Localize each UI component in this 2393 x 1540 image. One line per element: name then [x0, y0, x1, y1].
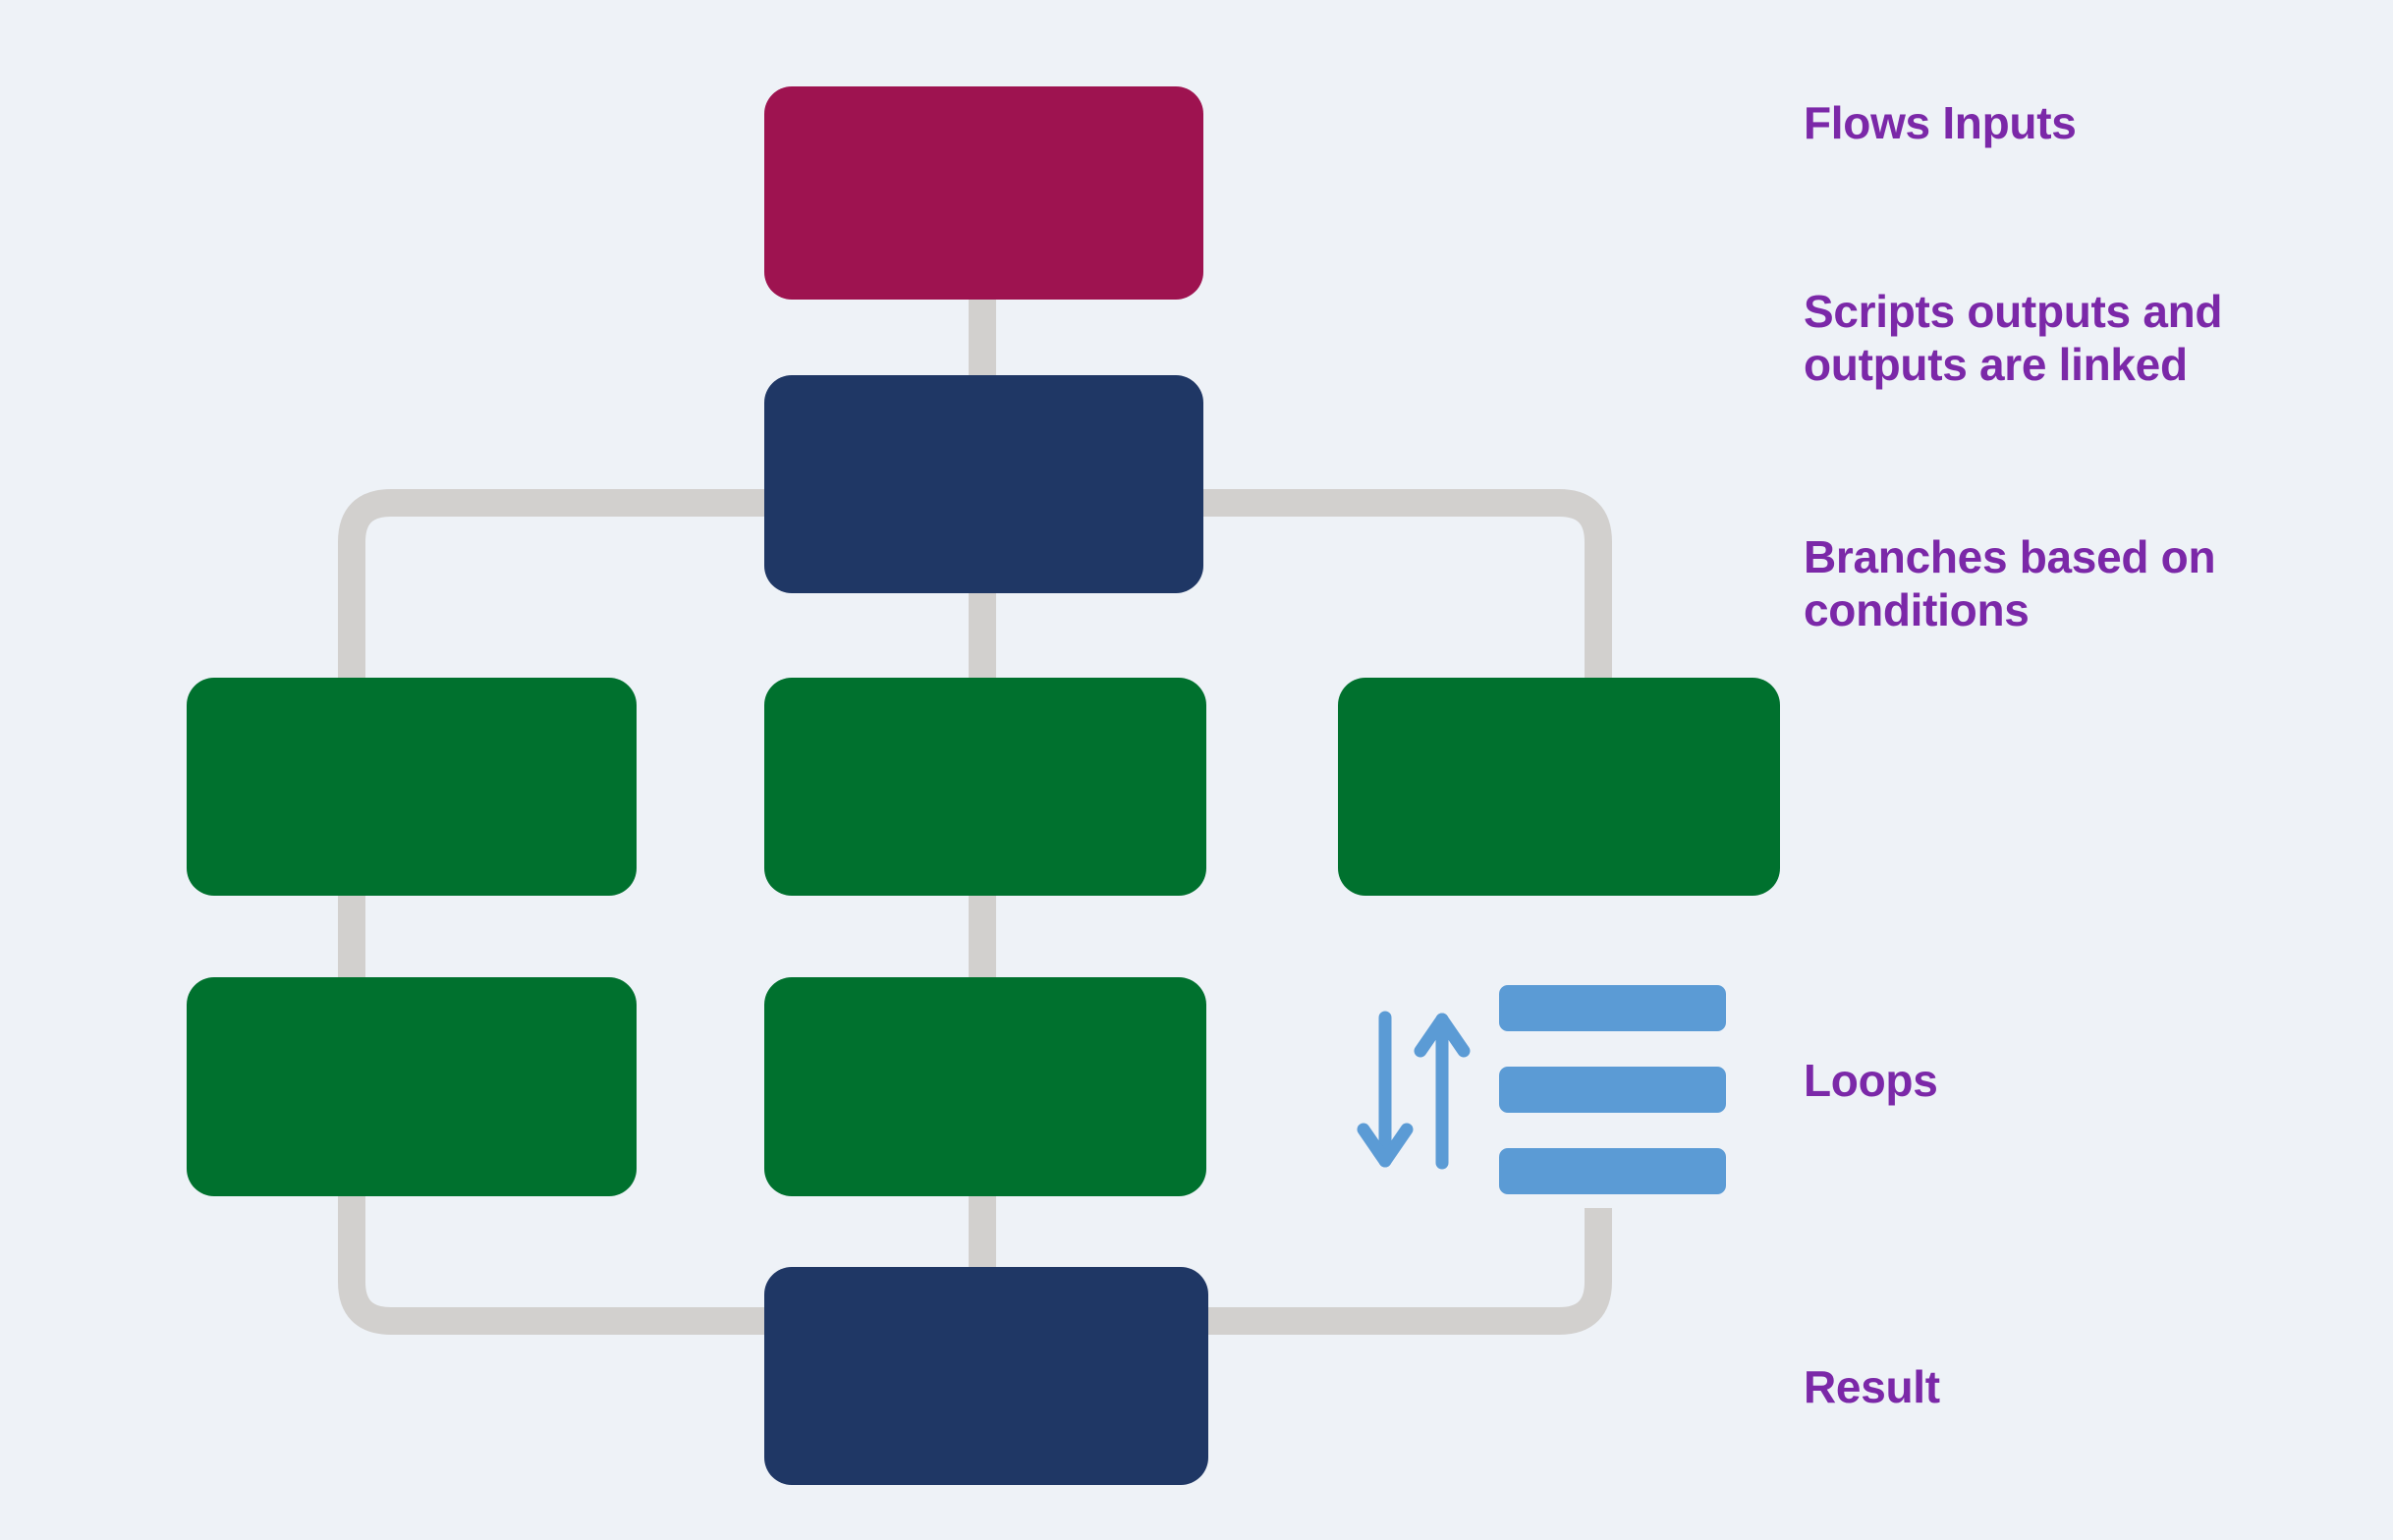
- flow-diagram-canvas: Flows InputsScripts outputs and outputs …: [0, 0, 2393, 1540]
- label-scripts-outputs: Scripts outputs and outputs are linked: [1804, 285, 2222, 392]
- label-branches-conditions: Branches based on conditions: [1804, 530, 2215, 637]
- label-flows-inputs: Flows Inputs: [1804, 96, 2077, 149]
- label-loops: Loops: [1804, 1054, 1937, 1107]
- label-result: Result: [1804, 1360, 1940, 1413]
- annotation-label-layer: Flows InputsScripts outputs and outputs …: [0, 0, 2393, 1540]
